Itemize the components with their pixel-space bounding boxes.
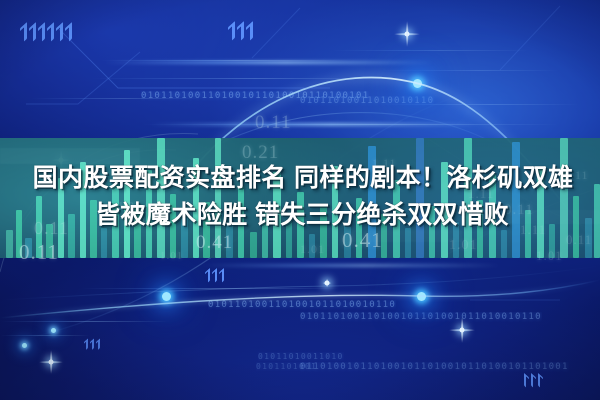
vignette-overlay (0, 0, 600, 400)
banner-image: 0101101001101001011010010110100101010110… (0, 0, 600, 400)
